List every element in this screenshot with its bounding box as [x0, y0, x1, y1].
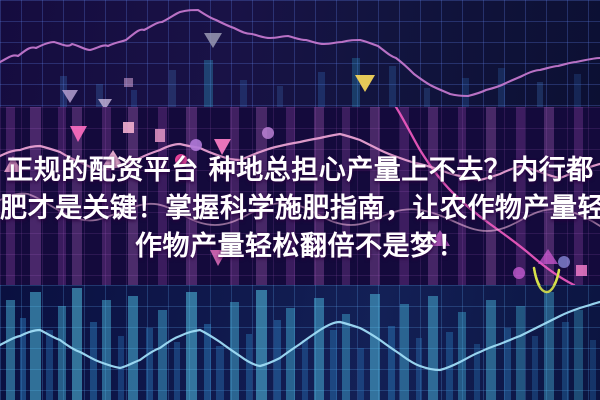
yellow-dip-highlight-fg: [534, 268, 559, 292]
headline-line-1: 正规的配资平台 种地总担心产量上不去？内行都: [0, 152, 600, 190]
headline-block: 正规的配资平台 种地总担心产量上不去？内行都 肥才是关键！掌握科学施肥指南，让农…: [0, 152, 600, 266]
promo-banner: 正规的配资平台 种地总担心产量上不去？内行都 肥才是关键！掌握科学施肥指南，让农…: [0, 0, 600, 400]
headline-line-2: 肥才是关键！掌握科学施肥指南，让农作物产量轻松翻: [0, 190, 600, 228]
headline-line-3: 作物产量轻松翻倍不是梦！: [0, 228, 600, 266]
